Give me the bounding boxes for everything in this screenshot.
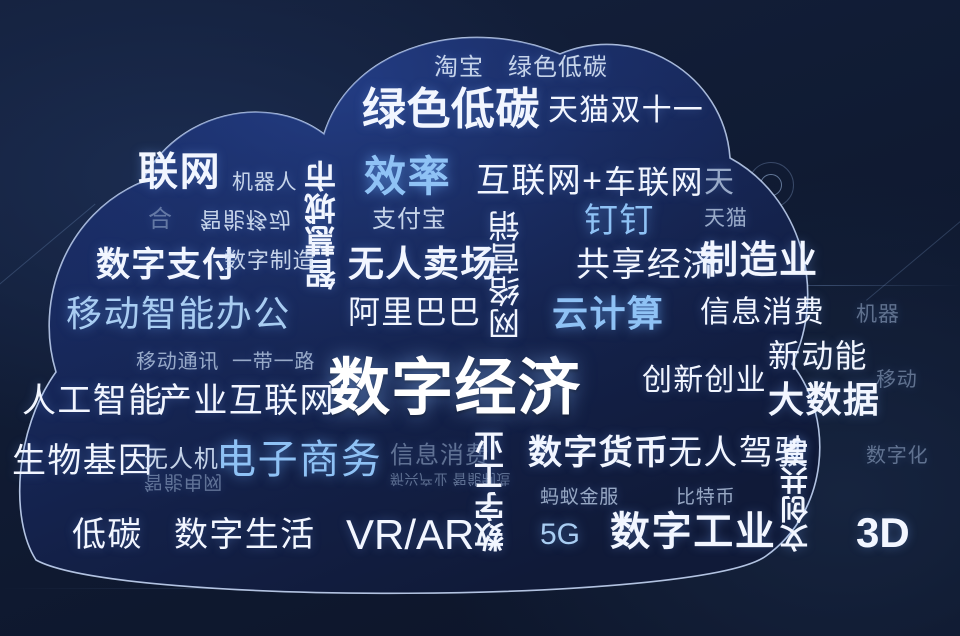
word-belt-and-road: 一带一路	[232, 352, 315, 372]
word-efficiency: 效率	[364, 156, 451, 198]
word-industrial-internet: 产业互联网	[158, 384, 335, 418]
word-he: 合	[148, 208, 173, 232]
word-smart-mobile: 智能移动	[200, 208, 292, 230]
word-digital-industry-vertical: 数字工业	[478, 424, 508, 552]
word-mobile-smart-office: 移动智能办公	[66, 296, 291, 332]
word-unmanned-store: 无人卖场	[348, 246, 498, 282]
word-information-consumption-mid: 信息消费	[390, 444, 490, 468]
word-cloud-scene: 淘宝 绿色低碳 绿色低碳 天猫双十一 效率 互联网+ 车联网 天 联网 机器人 …	[0, 0, 960, 636]
word-3d: 3D	[856, 512, 910, 554]
word-internet-plus: 互联网+	[476, 164, 603, 198]
word-drone: 无人机	[144, 448, 219, 472]
word-green-low-carbon-small: 绿色低碳	[508, 56, 608, 80]
word-sharing-economy: 共享经济	[576, 248, 717, 282]
word-robot: 机器人	[232, 172, 298, 193]
word-cultural-creative-sharing-vertical: 文创共享	[782, 434, 810, 552]
word-low-carbon: 低碳	[72, 518, 143, 552]
word-tmall-double-eleven: 天猫双十一	[548, 96, 704, 126]
word-new-momentum: 新动能	[768, 340, 868, 372]
word-digital-life: 数字生活	[174, 518, 315, 552]
word-digitalization: 数字化	[866, 446, 928, 466]
word-machine: 机器	[856, 304, 900, 325]
word-innovation-entrepreneurship: 创新创业	[642, 366, 767, 396]
word-artificial-intelligence: 人工智能	[22, 384, 163, 418]
word-taobao: 淘宝	[434, 56, 484, 80]
word-bitcoin: 比特币	[676, 488, 735, 507]
word-vr-ar: VR/AR	[346, 514, 474, 556]
word-digital-currency: 数字货币	[528, 436, 669, 470]
word-dingtalk: 钉钉	[584, 204, 655, 238]
word-manufacturing-industry: 制造业	[700, 242, 819, 280]
word-digital-payment: 数字支付	[96, 248, 237, 282]
word-digital-industry: 数字工业	[610, 512, 776, 552]
word-alibaba: 阿里巴巴	[348, 296, 481, 328]
word-iov: 车联网	[604, 166, 704, 198]
word-mobile: 移动	[876, 370, 918, 390]
word-smart-grid: 智能电网	[144, 472, 223, 491]
word-e-commerce: 电子商务	[216, 440, 382, 480]
word-lianwang: 联网	[138, 152, 221, 192]
word-mobile-communication: 移动通讯	[136, 352, 219, 372]
word-5g: 5G	[540, 520, 580, 550]
word-information-consumption-right: 信息消费	[700, 298, 825, 328]
hero-digital-economy: 数字经济	[328, 358, 581, 420]
word-ant-financial: 蚂蚁金服	[540, 488, 619, 507]
word-biological-gene: 生物基因	[12, 444, 153, 478]
word-network-marketing-vertical: 网络营销	[490, 206, 522, 340]
word-tian: 天	[704, 168, 735, 198]
word-alipay: 支付宝	[372, 208, 447, 232]
word-big-data: 大数据	[768, 382, 880, 418]
word-cloud-computing: 云计算	[552, 296, 664, 332]
word-tmall: 天猫	[704, 208, 748, 229]
word-green-low-carbon-large: 绿色低碳	[362, 88, 540, 132]
word-digital-manufacturing: 数字制造	[224, 250, 316, 272]
